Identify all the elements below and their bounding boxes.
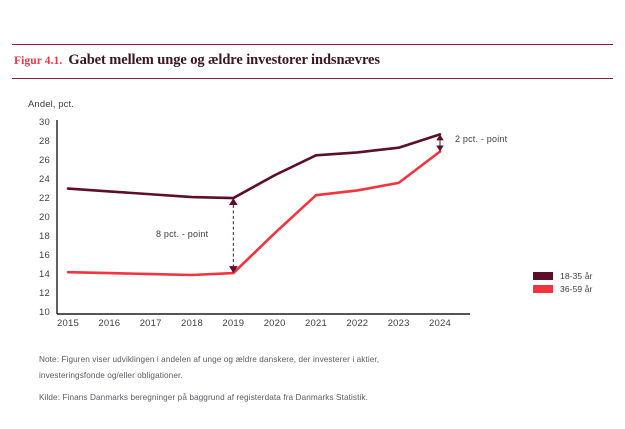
y-tick-label: 18 bbox=[24, 231, 50, 242]
x-tick-label: 2015 bbox=[46, 318, 90, 329]
annotation-arrow-2019 bbox=[229, 198, 238, 273]
y-tick-label: 16 bbox=[24, 250, 50, 261]
x-tick-label: 2022 bbox=[335, 318, 379, 329]
x-tick-label: 2018 bbox=[170, 318, 214, 329]
note-line: investeringsfonde og/eller obligationer. bbox=[39, 368, 469, 384]
legend-swatch-icon bbox=[533, 285, 553, 293]
legend-label-18-35: 18-35 år bbox=[560, 271, 592, 281]
y-tick-label: 14 bbox=[24, 269, 50, 280]
y-tick-label: 28 bbox=[24, 136, 50, 147]
x-tick-label: 2016 bbox=[87, 318, 131, 329]
legend-item-36-59[interactable]: 36-59 år bbox=[533, 282, 592, 295]
chart-legend: 18-35 år 36-59 år bbox=[533, 269, 592, 295]
x-tick-label: 2020 bbox=[253, 318, 297, 329]
legend-swatch-icon bbox=[533, 272, 553, 280]
figure-note: Note: Figuren viser udviklingen i andele… bbox=[39, 352, 469, 384]
y-tick-label: 24 bbox=[24, 174, 50, 185]
x-tick-label: 2024 bbox=[418, 318, 462, 329]
figure-source: Kilde: Finans Danmarks beregninger på ba… bbox=[39, 393, 368, 402]
y-tick-label: 20 bbox=[24, 212, 50, 223]
legend-label-36-59: 36-59 år bbox=[560, 284, 592, 294]
y-tick-label: 26 bbox=[24, 155, 50, 166]
x-tick-label: 2019 bbox=[211, 318, 255, 329]
legend-item-18-35[interactable]: 18-35 år bbox=[533, 269, 592, 282]
x-tick-label: 2017 bbox=[129, 318, 173, 329]
y-tick-label: 30 bbox=[24, 117, 50, 128]
x-tick-label: 2021 bbox=[294, 318, 338, 329]
annotation-arrow-2024 bbox=[436, 134, 443, 151]
series-line-36-59 bbox=[68, 152, 440, 276]
figure-page: Figur 4.1. Gabet mellem unge og ældre in… bbox=[0, 0, 625, 424]
series-line-18-35 bbox=[68, 134, 440, 198]
y-tick-label: 22 bbox=[24, 193, 50, 204]
y-tick-label: 12 bbox=[24, 288, 50, 299]
note-line: Note: Figuren viser udviklingen i andele… bbox=[39, 352, 469, 368]
x-tick-label: 2023 bbox=[377, 318, 421, 329]
y-tick-label: 10 bbox=[24, 307, 50, 318]
annotation-label-2pct: 2 pct. - point bbox=[455, 134, 507, 144]
annotation-label-8pct: 8 pct. - point bbox=[156, 229, 208, 239]
